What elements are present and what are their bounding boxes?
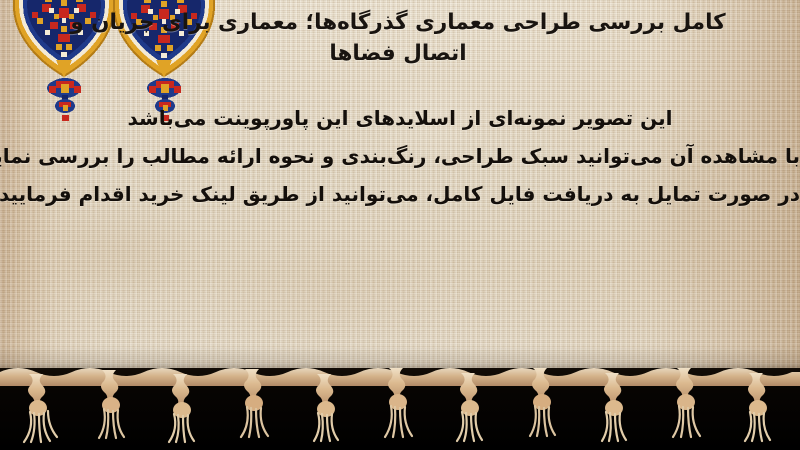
body-line-3: در صورت تمایل به دریافت فایل کامل، می‌تو…: [0, 184, 800, 204]
body-line-1: این تصویر نمونه‌ای از اسلایدهای این پاور…: [0, 108, 800, 128]
slide-body: این تصویر نمونه‌ای از اسلایدهای این پاور…: [0, 108, 800, 204]
black-base-band: [0, 368, 800, 450]
body-line-2: با مشاهده آن می‌توانید سبک طراحی، رنگ‌بن…: [0, 146, 800, 166]
slide-canvas: کامل بررسی طراحی معماری گذرگاه‌ها؛ معمار…: [0, 0, 800, 450]
slide-title: کامل بررسی طراحی معماری گذرگاه‌ها؛ معمار…: [48, 8, 748, 69]
